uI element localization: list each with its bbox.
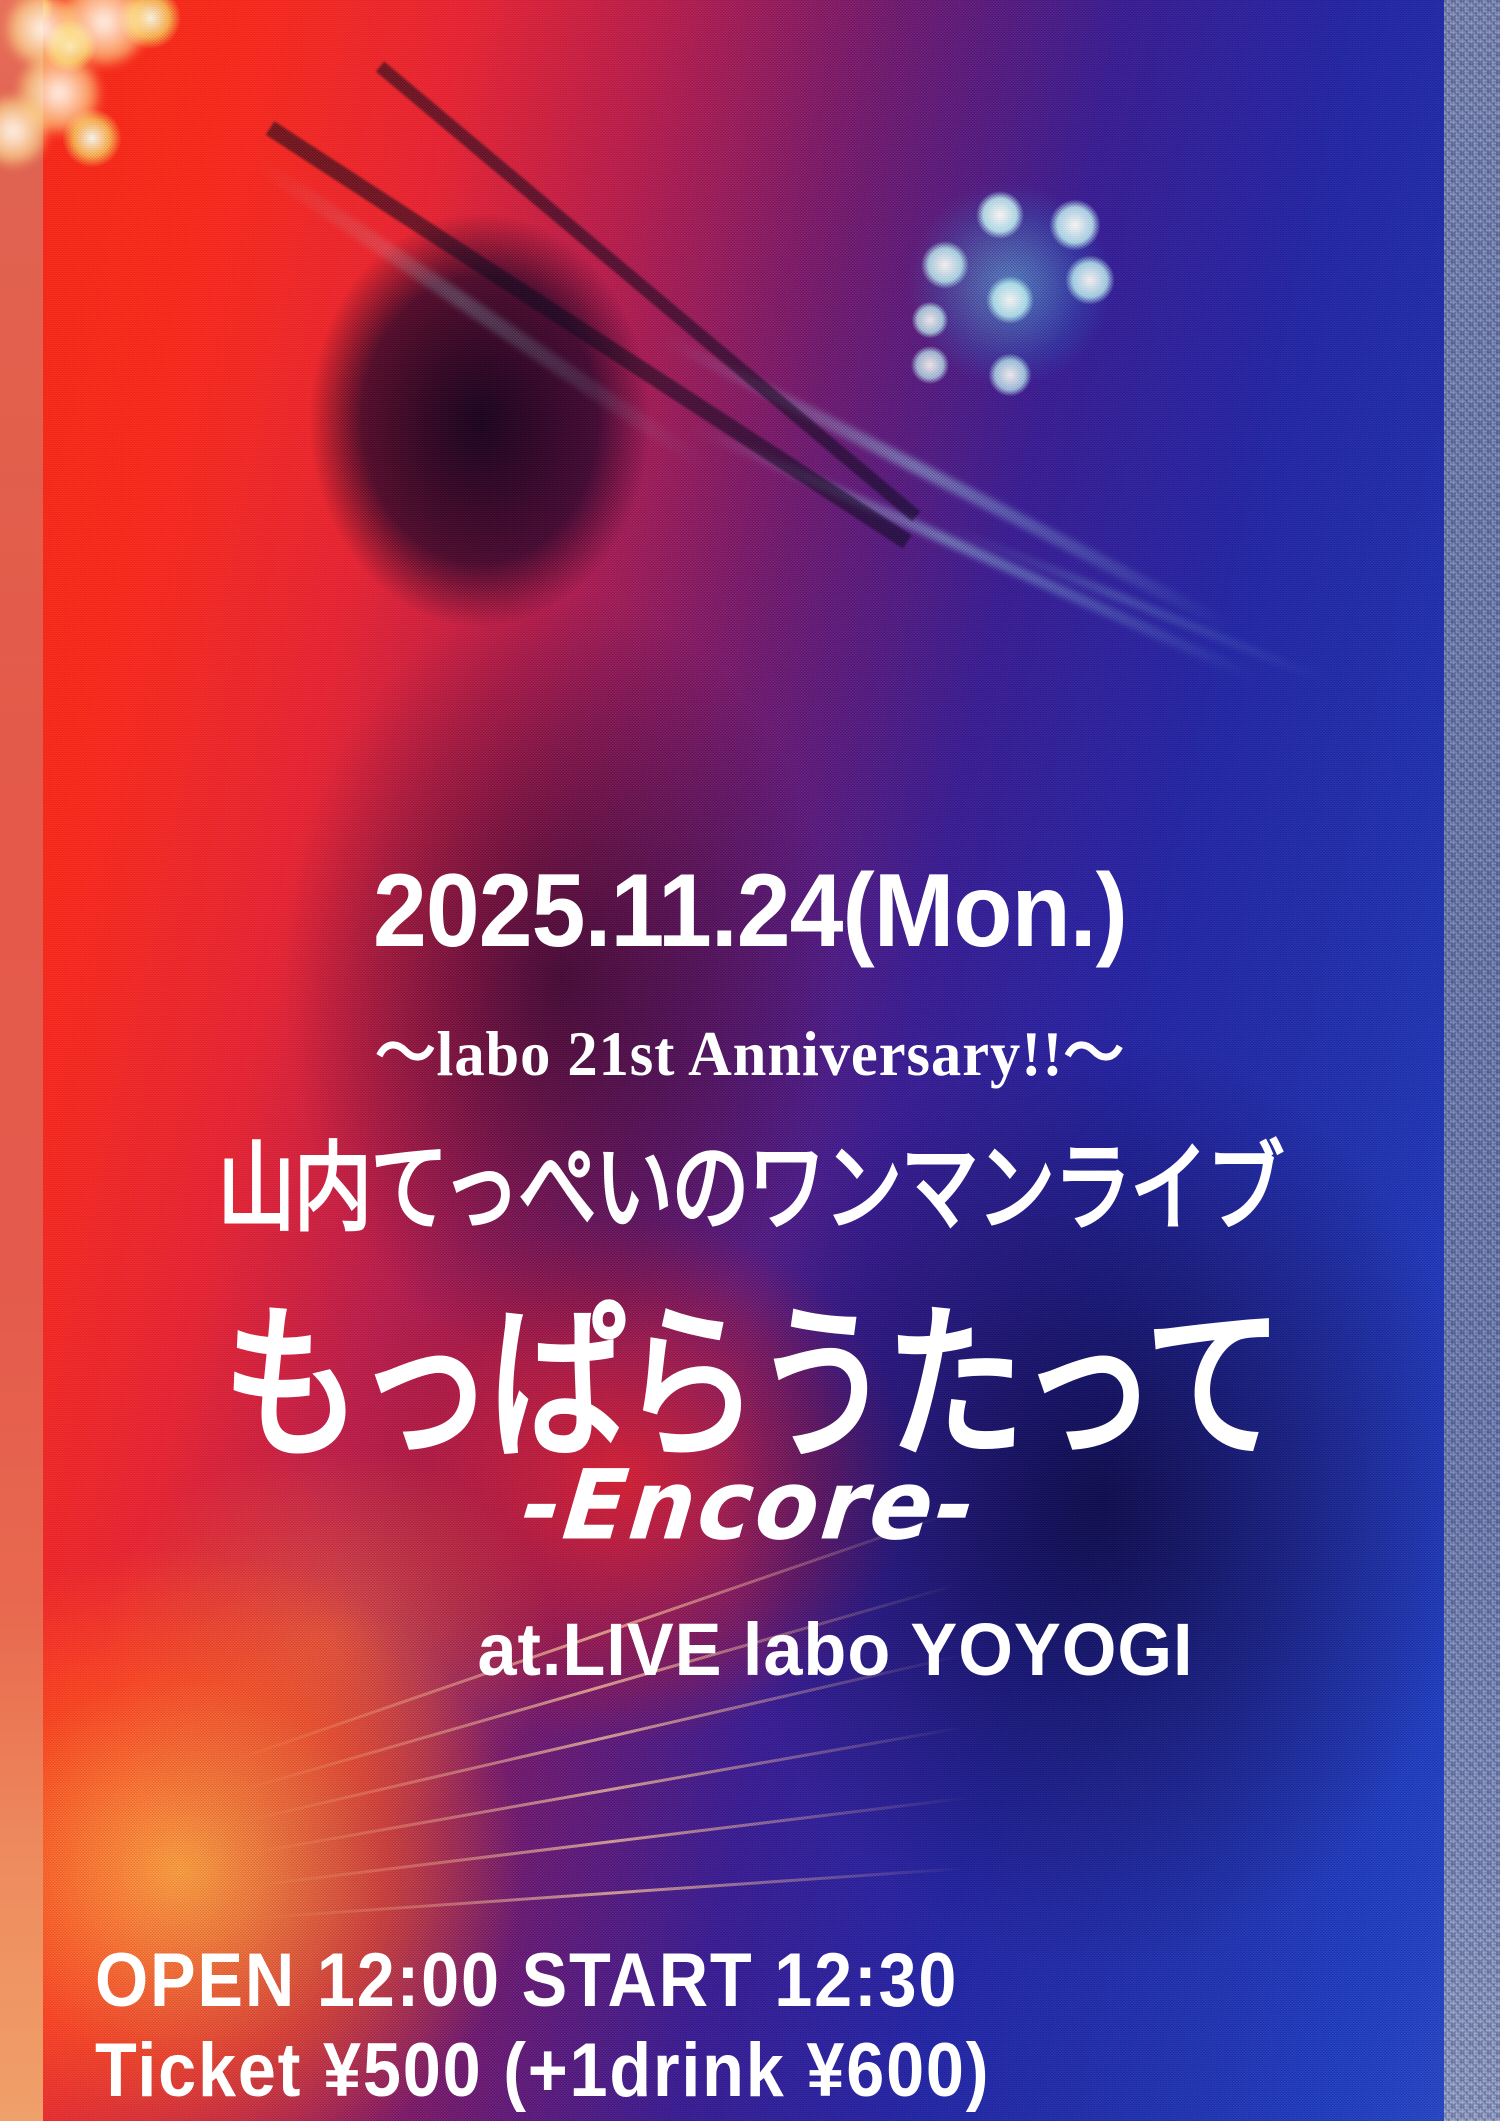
event-date: 2025.11.24(Mon.) — [53, 852, 1448, 971]
ticket-price: Ticket ¥500 (+1drink ¥600) — [95, 2027, 990, 2114]
artist-subtitle: 山内てっぺいのワンマンライブ — [15, 1110, 1485, 1252]
event-title-suffix: -Encore- — [0, 1449, 1500, 1561]
venue-name: at.LIVE labo YOYOGI — [38, 1607, 1463, 1692]
anniversary-line: 〜labo 21st Anniversary!!〜 — [30, 1003, 1470, 1094]
door-times: OPEN 12:00 START 12:30 — [95, 1937, 958, 2024]
concert-poster: 2025.11.24(Mon.) 〜labo 21st Anniversary!… — [0, 0, 1500, 2121]
